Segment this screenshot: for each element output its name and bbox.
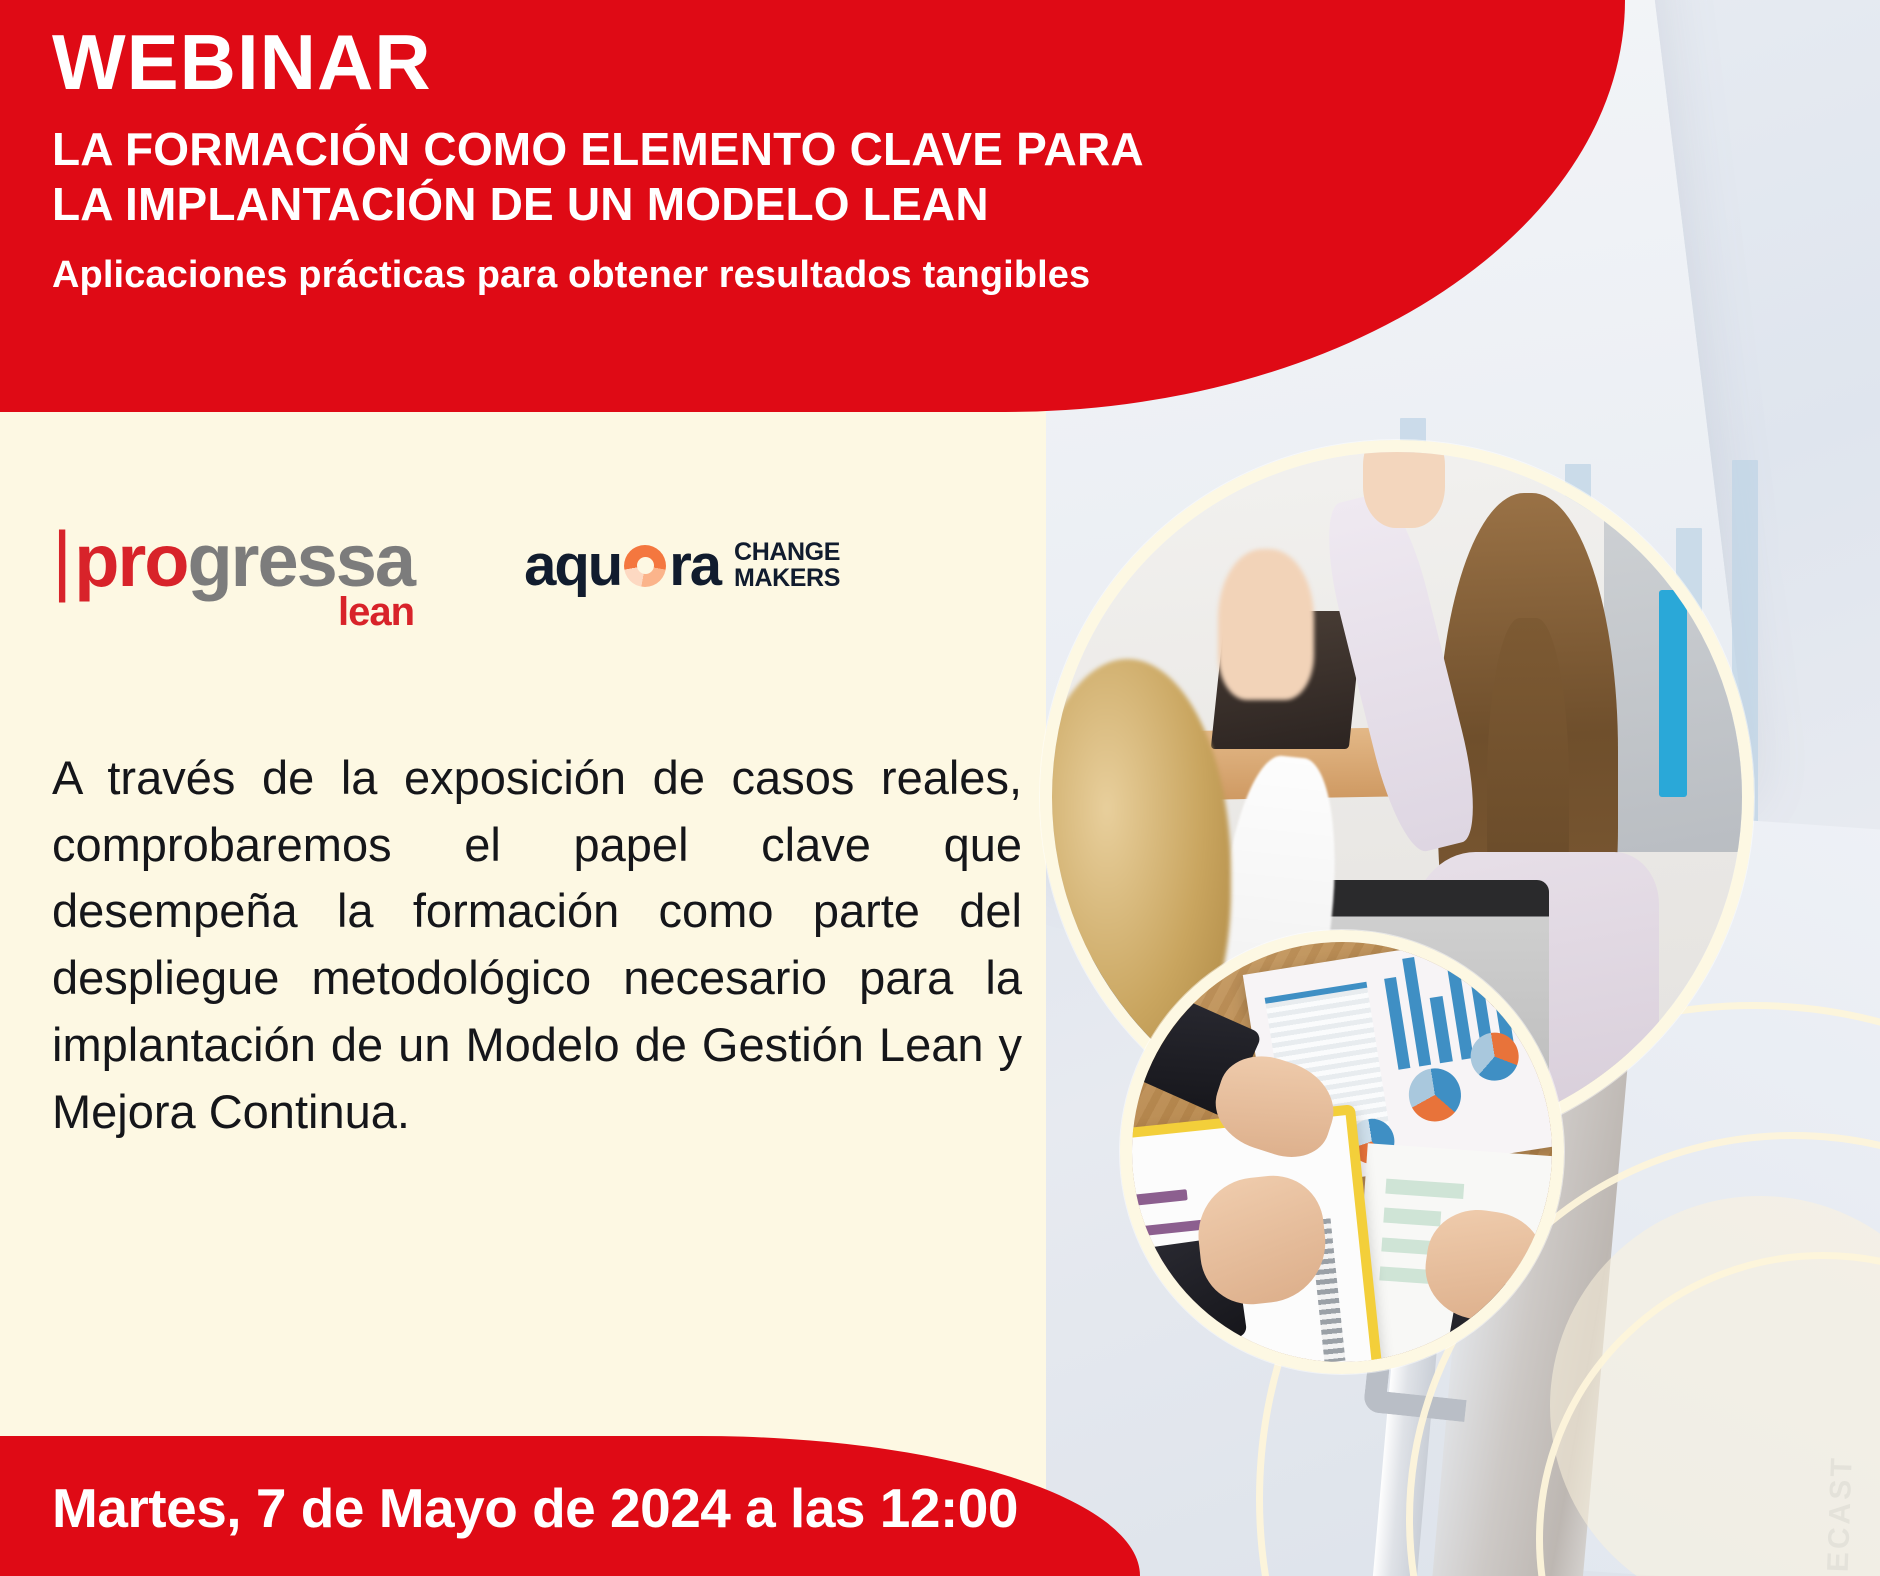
progressa-word-pro: pro bbox=[74, 524, 187, 598]
aquora-changemakers-logo: aqu ra CHANGE MAKERS bbox=[524, 532, 840, 599]
photo-business-charts bbox=[1120, 930, 1564, 1374]
page-title-line-2: LA IMPLANTACIÓN DE UN MODELO LEAN bbox=[52, 177, 1352, 232]
page-subtitle: Aplicaciones prácticas para obtener resu… bbox=[52, 254, 1352, 297]
aquora-tagline-line-1: CHANGE bbox=[734, 540, 840, 566]
progressa-pipe-mark: | bbox=[52, 520, 70, 598]
progressa-word-gressa: gressa bbox=[187, 524, 414, 598]
aquora-tagline: CHANGE MAKERS bbox=[734, 540, 840, 591]
aquora-word-after-mark: ra bbox=[669, 532, 720, 599]
header-text-block: WEBINAR LA FORMACIÓN COMO ELEMENTO CLAVE… bbox=[52, 22, 1352, 297]
webinar-poster: 3.03 9.00 78 2016 3/1/2016 4/1/2016 MONT… bbox=[0, 0, 1880, 1576]
photo-business-charts-image bbox=[1132, 942, 1552, 1362]
page-title-line-1: LA FORMACIÓN COMO ELEMENTO CLAVE PARA bbox=[52, 122, 1352, 177]
aquora-donut-icon bbox=[624, 545, 666, 587]
kicker-webinar: WEBINAR bbox=[52, 22, 1352, 104]
aquora-tagline-line-2: MAKERS bbox=[734, 566, 840, 592]
body-paragraph: A través de la exposición de casos reale… bbox=[52, 745, 1022, 1145]
event-date-text: Martes, 7 de Mayo de 2024 a las 12:00 bbox=[52, 1476, 1018, 1540]
logo-row: | pro gressa lean aqu ra CHANGE MAKERS bbox=[52, 520, 840, 632]
progressa-lean-logo: | pro gressa lean bbox=[52, 520, 414, 632]
aquora-word-before-mark: aqu bbox=[524, 532, 621, 599]
